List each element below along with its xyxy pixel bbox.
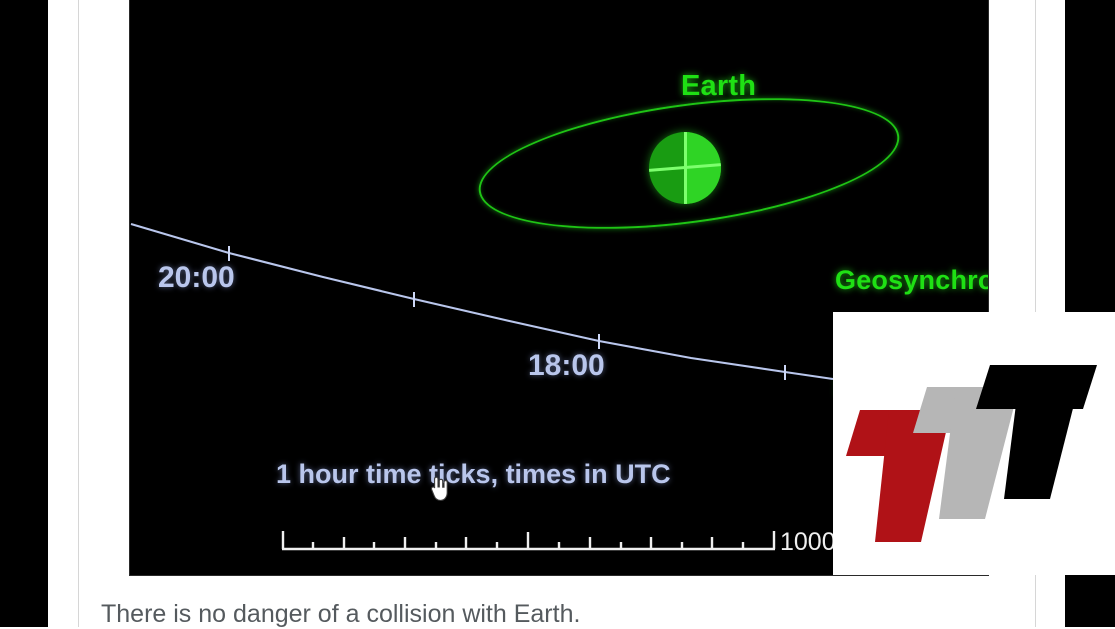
left-column-rule [78,0,79,627]
hour-tick-marks [229,246,785,380]
earth-label: Earth [681,70,756,103]
ttt-logo-glyphs [833,312,1115,575]
mouse-pointer-hand-icon [430,476,450,502]
page-root: Earth Geosynchronous Satellite Ring 20:0… [0,0,1115,627]
left-gutter-bar [0,0,48,627]
time-label-2000: 20:00 [158,261,235,295]
earth-sphere [649,132,721,204]
figure-caption: There is no danger of a collision with E… [101,600,580,629]
ttt-logo[interactable] [833,312,1115,575]
time-ticks-note: 1 hour time ticks, times in UTC [276,459,671,490]
trajectory-line [131,224,833,379]
geo-ring-label-line1: Geosynchronous [835,263,988,299]
scale-bar [281,528,776,554]
trajectory-path-group [131,224,833,379]
time-label-1800: 18:00 [528,349,605,383]
